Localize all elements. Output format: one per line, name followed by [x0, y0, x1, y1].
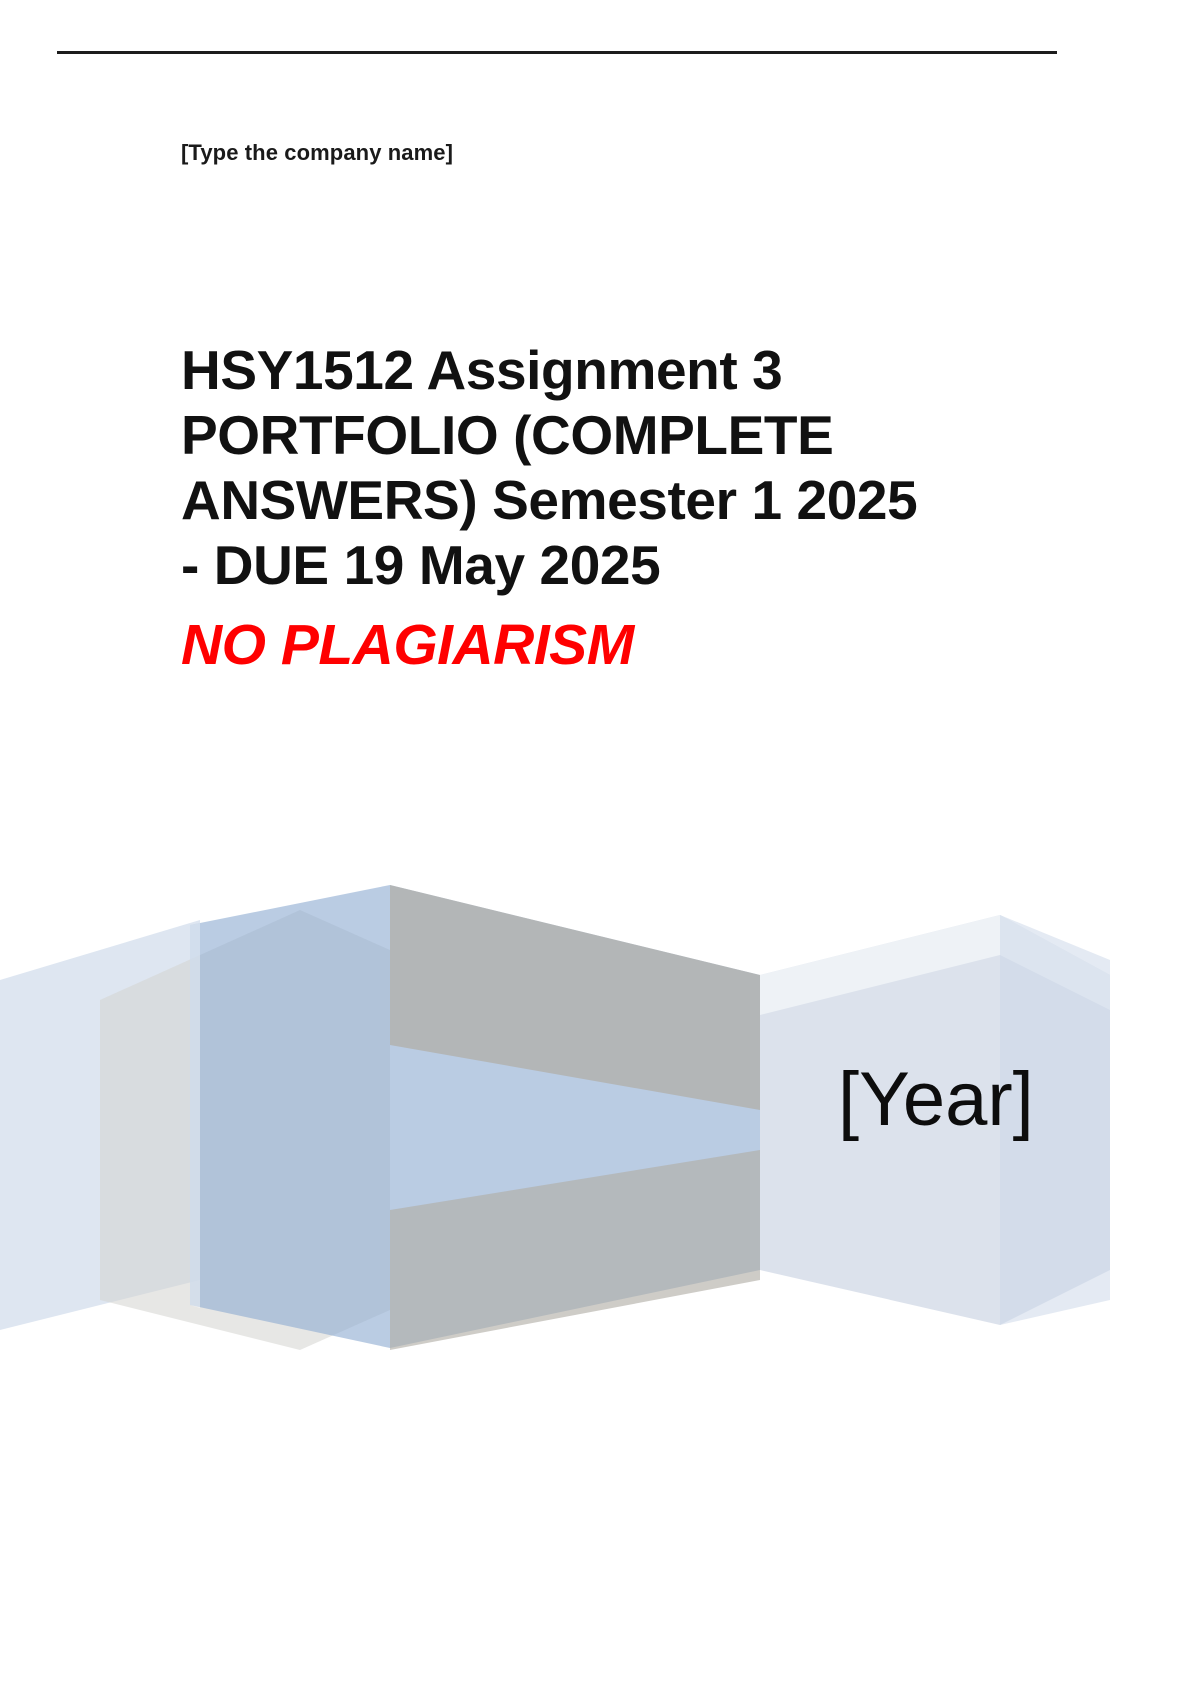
title-line-3: ANSWERS) Semester 1 2025	[181, 469, 917, 531]
title-line-2: PORTFOLIO (COMPLETE	[181, 404, 833, 466]
company-name-placeholder[interactable]: [Type the company name]	[181, 140, 453, 166]
document-subtitle[interactable]: NO PLAGIARISM	[181, 614, 981, 677]
document-title[interactable]: HSY1512 Assignment 3 PORTFOLIO (COMPLETE…	[181, 338, 981, 598]
year-placeholder[interactable]: [Year]	[838, 1062, 1034, 1138]
title-line-4: - DUE 19 May 2025	[181, 534, 660, 596]
header-rule	[57, 51, 1057, 54]
title-line-1: HSY1512 Assignment 3	[181, 339, 782, 401]
title-block: HSY1512 Assignment 3 PORTFOLIO (COMPLETE…	[181, 338, 981, 676]
band-shape-left-seam	[190, 923, 200, 1308]
document-page: [Type the company name] HSY1512 Assignme…	[0, 0, 1200, 1700]
